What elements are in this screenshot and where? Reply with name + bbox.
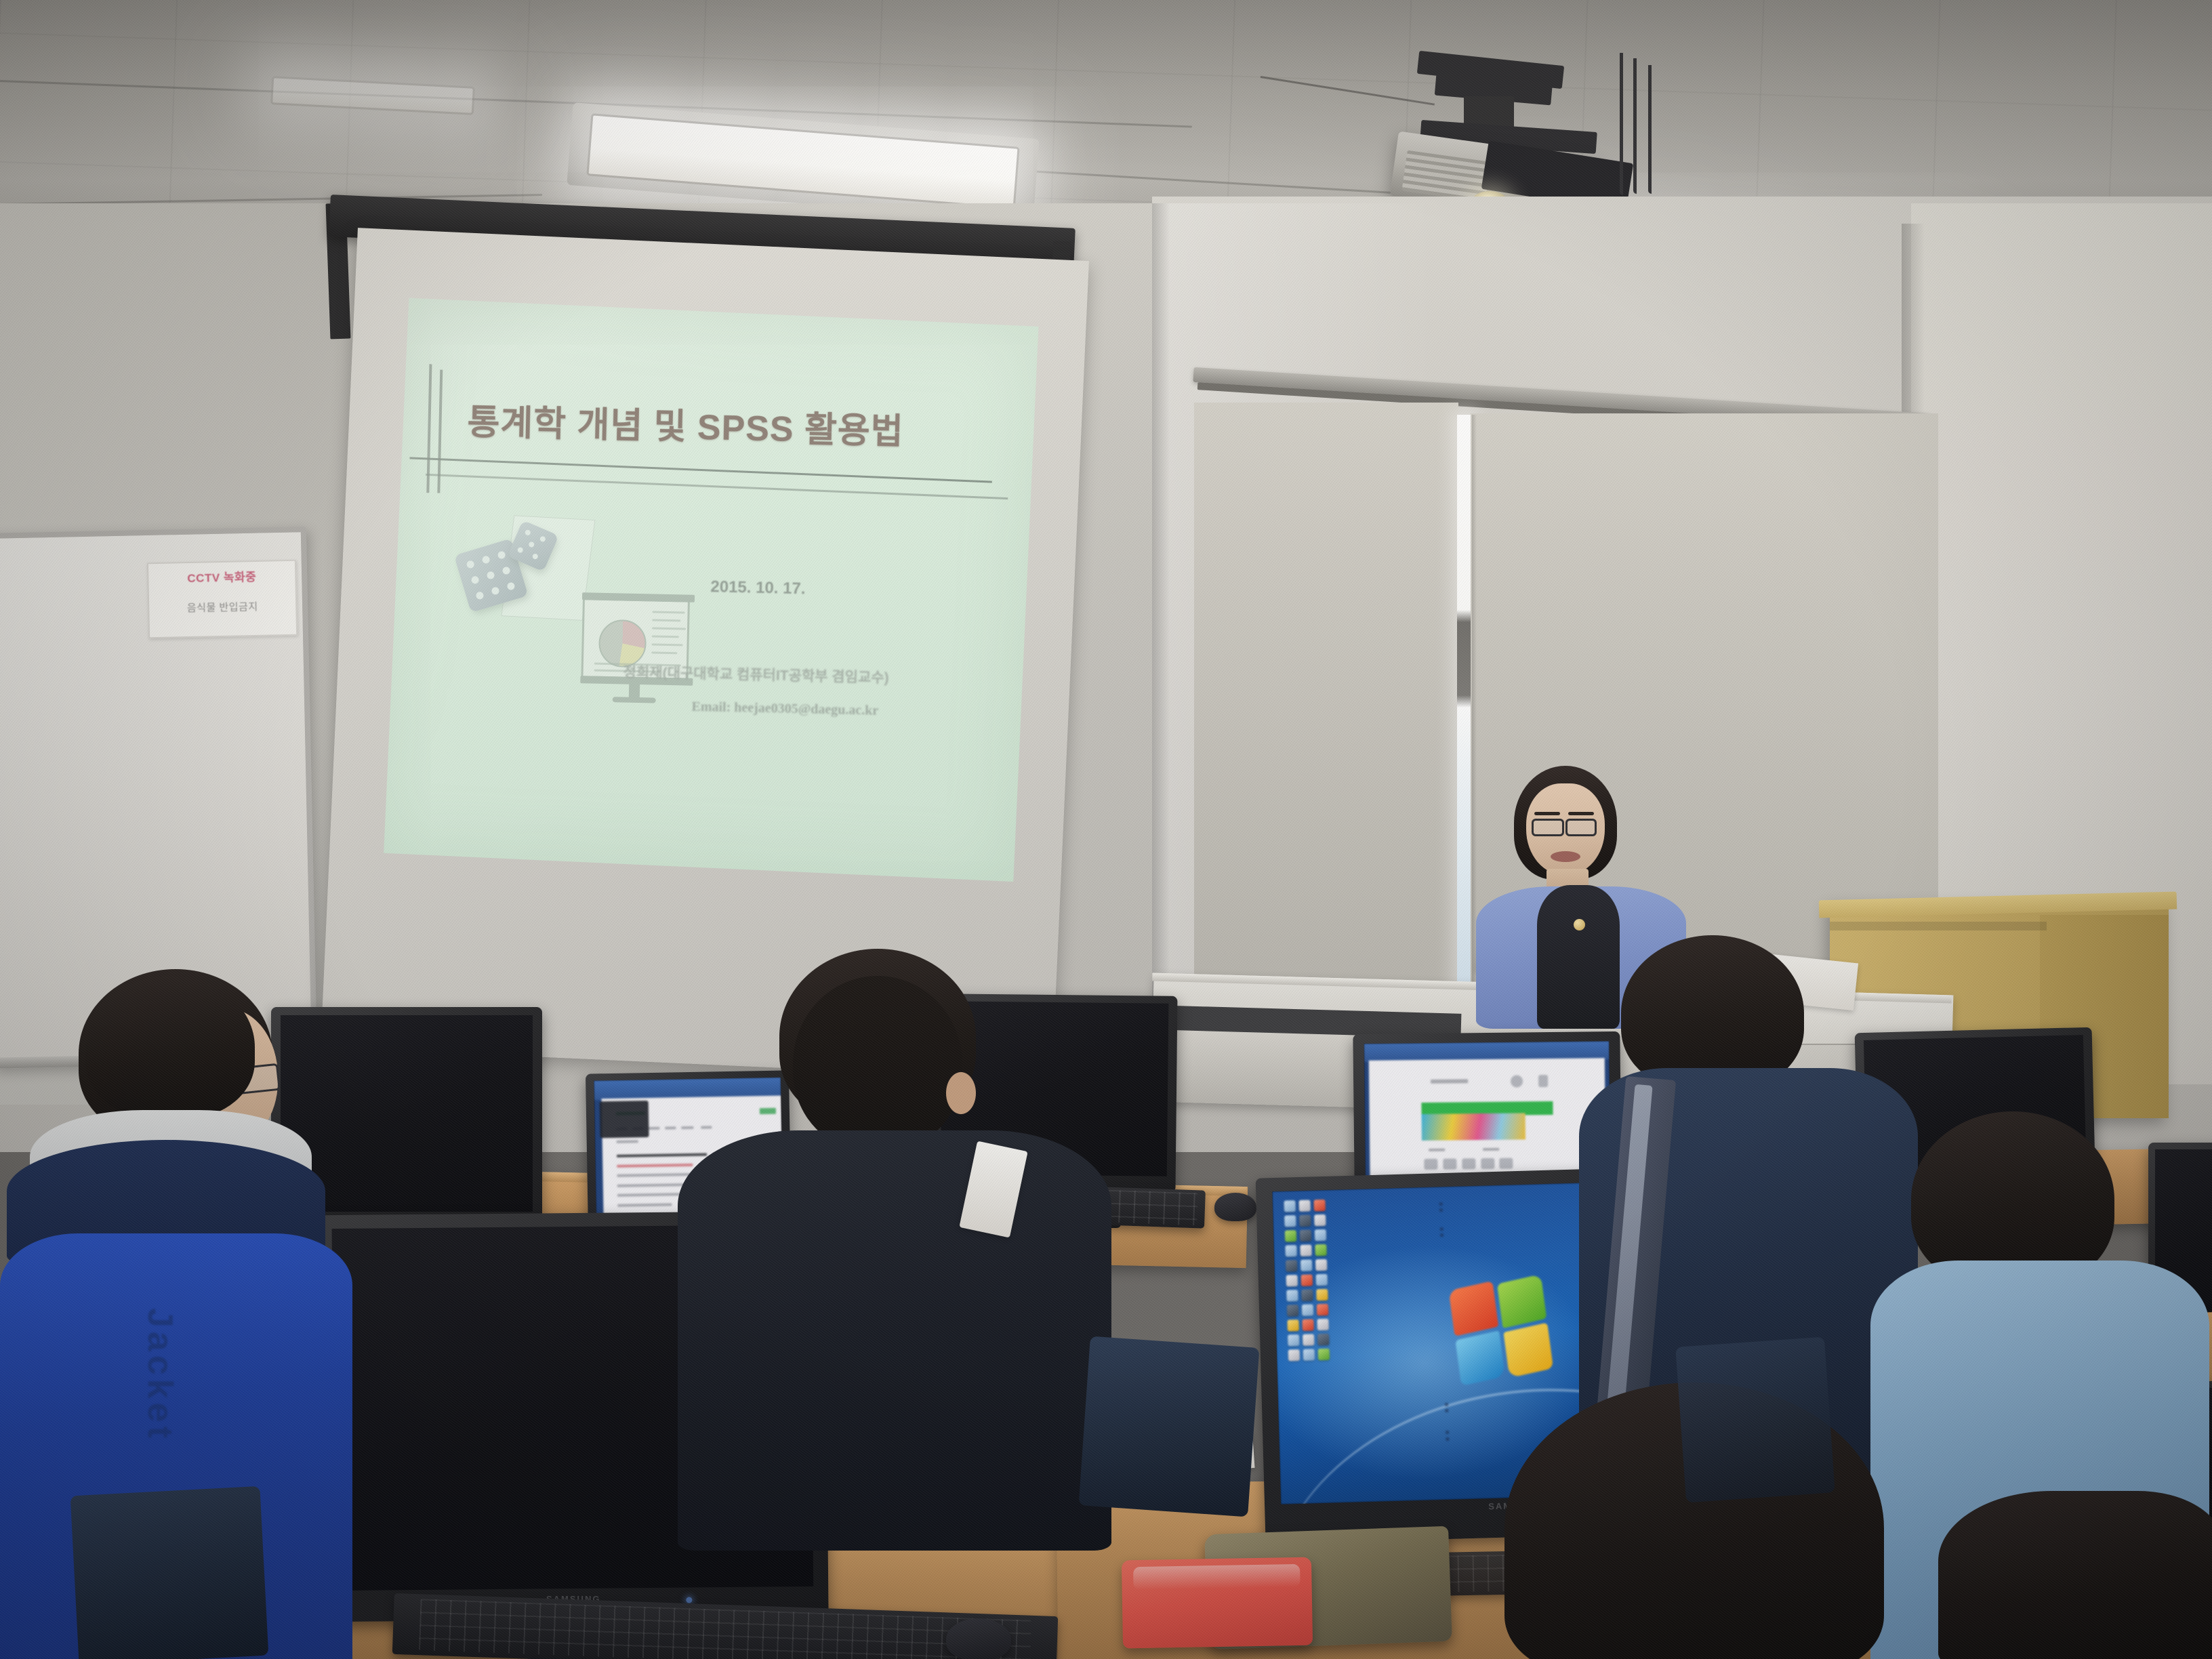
presenter-brow: [1534, 812, 1560, 815]
page-banner-image: [1421, 1113, 1525, 1141]
presenter-eyeglasses: [1565, 819, 1597, 836]
presenter-mouth: [1551, 851, 1580, 862]
slide-clipart: [445, 510, 734, 733]
student-corner-right: [1938, 1491, 2212, 1659]
cctv-notice-sign: CCTV 녹화중 음식물 반입금지: [147, 560, 298, 639]
lectern-front-lip: [1830, 922, 2047, 930]
student-hair-front: [85, 976, 255, 1118]
wall-corner-shadow: [1152, 203, 1170, 1050]
cctv-notice-sub: 음식물 반입금지: [156, 598, 289, 615]
monitor-power-led: [686, 1597, 692, 1603]
blind-panel-left: [1194, 403, 1458, 1012]
slide-title-rule: [409, 457, 991, 483]
presenter-brow: [1568, 812, 1594, 815]
clipart-pie-chart: [598, 619, 647, 668]
glasses-case: [1122, 1557, 1313, 1649]
classroom-photo: CCTV 녹화중 음식물 반입금지 통계학 개념 및 SPSS 활용법: [0, 0, 2212, 1659]
chair-left: [70, 1486, 269, 1659]
chair-mid: [1079, 1336, 1260, 1517]
desktop-icon-grid[interactable]: [1284, 1200, 1330, 1361]
student-mid-left: [691, 949, 1098, 1545]
presenter-necklace-pendant: [1574, 919, 1585, 930]
projector-cable: [1633, 58, 1637, 194]
student-ear: [946, 1072, 976, 1114]
student-head: [793, 976, 962, 1152]
cctv-notice-title: CCTV 녹화중: [155, 567, 288, 586]
slide-date: 2015. 10. 17.: [710, 577, 806, 598]
window-light-gap: [1457, 415, 1472, 1025]
slide-title: 통계학 개념 및 SPSS 활용법: [467, 393, 905, 453]
mouse-back-left[interactable]: [1214, 1193, 1256, 1221]
presenter-eyeglasses: [1532, 819, 1564, 836]
windows-logo: [1449, 1269, 1561, 1391]
projector-cable: [1648, 65, 1652, 194]
student-suit-shoulders: [678, 1130, 1111, 1551]
projector-cable: [1620, 53, 1623, 195]
presentation-slide: 통계학 개념 및 SPSS 활용법: [384, 298, 1038, 882]
mouse-front[interactable]: [946, 1618, 1011, 1659]
chair-right: [1675, 1337, 1835, 1503]
student-hair: [1938, 1491, 2212, 1659]
